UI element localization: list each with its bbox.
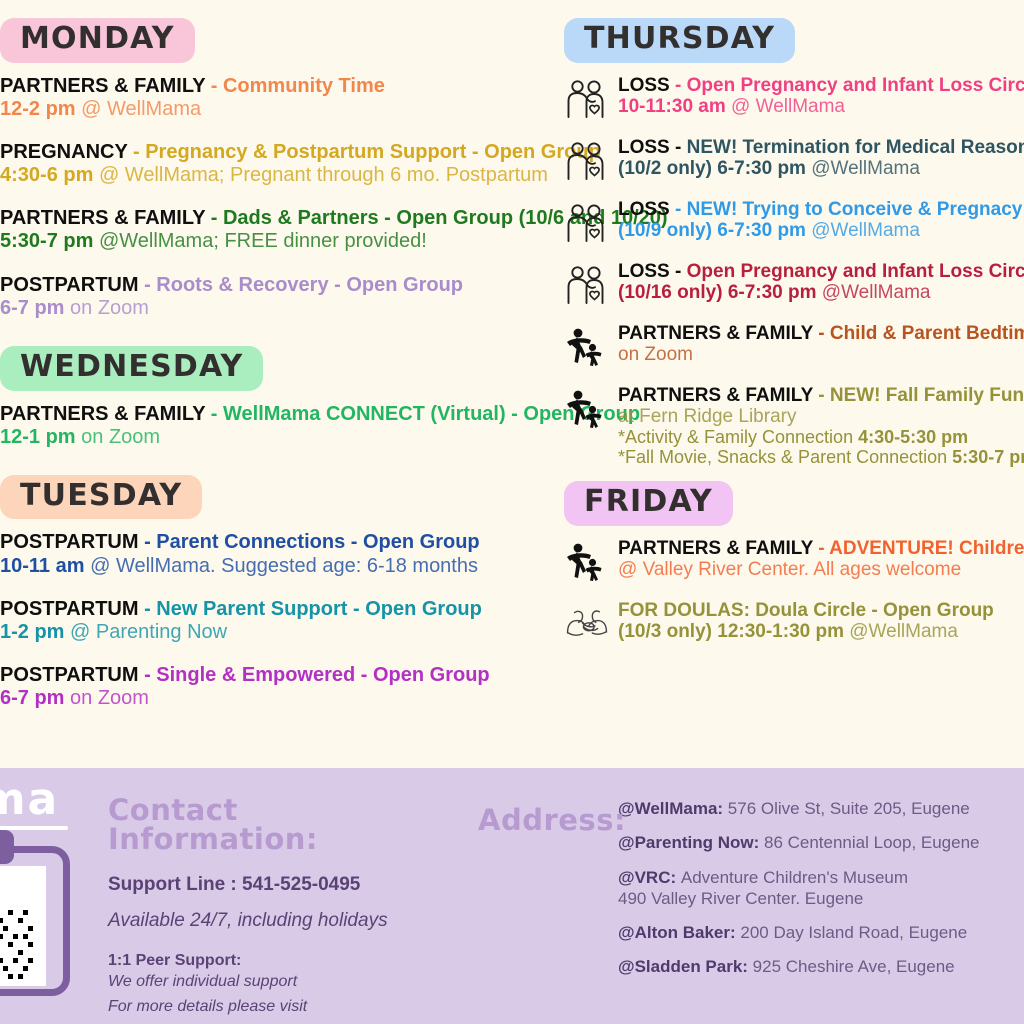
- event-item: PARTNERS & FAMILY - NEW! Fall Family Fun…: [564, 385, 1024, 468]
- event-time-line: (10/16 only) 6-7:30 pm @WellMama: [618, 282, 1024, 303]
- event-time: 12-1 pm: [0, 426, 81, 448]
- event-time: 12-2 pm: [0, 98, 81, 120]
- event-title: - New Parent Support - Open Group: [139, 598, 482, 620]
- event-body: LOSS - NEW! Termination for Medical Reas…: [618, 137, 1024, 180]
- event-item: PARTNERS & FAMILY - ADVENTURE! Children'…: [564, 538, 1024, 586]
- event-category: PARTNERS & FAMILY: [0, 75, 205, 97]
- event-body: PARTNERS & FAMILY - NEW! Fall Family Fun…: [618, 385, 1024, 468]
- peer-support-line-2: For more details please visit: [108, 995, 458, 1020]
- event-category: PARTNERS & FAMILY: [0, 207, 205, 229]
- event-title: FOR DOULAS: Doula Circle - Open Group: [618, 600, 994, 621]
- contact-information-block: Contact Information: Support Line : 541-…: [108, 796, 458, 1024]
- event-category: PREGNANCY: [0, 141, 127, 163]
- logo-underline: [0, 826, 68, 830]
- event-category: POSTPARTUM: [0, 664, 139, 686]
- day-badge-tuesday: TUESDAY: [0, 475, 202, 520]
- family-figures-icon: [564, 387, 610, 433]
- event-category: LOSS: [618, 75, 670, 96]
- event-time: 5:30-7 pm: [0, 230, 99, 252]
- address-name: @Alton Baker:: [618, 923, 740, 942]
- event-title: - NEW! Trying to Conceive & Pregnacy Aft…: [670, 199, 1024, 220]
- event-body: POSTPARTUM - Single & Empowered - Open G…: [0, 664, 1024, 710]
- day-badge-wednesday: WEDNESDAY: [0, 346, 263, 391]
- two-people-heart-icon: [564, 139, 610, 185]
- family-figures-icon: [564, 540, 610, 586]
- peer-support-heading: 1:1 Peer Support:: [108, 952, 458, 970]
- event-time-line: (10/3 only) 12:30-1:30 pm @WellMama: [618, 621, 1024, 642]
- day-badge-friday: FRIDAY: [564, 481, 733, 526]
- address-row: @Parenting Now: 86 Centennial Loop, Euge…: [618, 832, 1024, 853]
- event-body: PARTNERS & FAMILY - Child & Parent Bedti…: [618, 323, 1024, 366]
- event-title: - Child & Parent Bedtime - Open Group, 7…: [813, 323, 1024, 344]
- two-people-heart-icon: [564, 77, 610, 123]
- address-block: Address: @WellMama: 576 Olive St, Suite …: [478, 798, 1024, 991]
- event-title: - Roots & Recovery - Open Group: [139, 274, 463, 296]
- event-category: PARTNERS & FAMILY: [618, 323, 813, 344]
- event-title: Open Pregnancy and Infant Loss Circle - …: [687, 261, 1024, 282]
- event-title: - NEW! Fall Family Fun Night - Open Grou…: [813, 385, 1024, 406]
- event-title: - Single & Empowered - Open Group: [139, 664, 490, 686]
- wellmama-logo: ama: [0, 778, 88, 830]
- address-heading: Address:: [478, 806, 626, 835]
- address-value-line2: 490 Valley River Center. Eugene: [618, 888, 1024, 909]
- event-location: @WellMama: [849, 621, 958, 642]
- event-category: PARTNERS & FAMILY: [618, 385, 813, 406]
- family-figures-icon: [564, 325, 610, 371]
- address-value: 576 Olive St, Suite 205, Eugene: [728, 799, 970, 818]
- calendar-column-right: THURSDAYLOSS - Open Pregnancy and Infant…: [560, 0, 1024, 662]
- two-people-heart-icon: [564, 263, 610, 309]
- event-location: on Zoom: [70, 297, 149, 319]
- event-sub-line: *Activity & Family Connection 4:30-5:30 …: [618, 427, 1024, 447]
- event-time: (10/2 only) 6-7:30 pm: [618, 158, 811, 179]
- event-title-line: LOSS - NEW! Termination for Medical Reas…: [618, 137, 1024, 158]
- event-category: POSTPARTUM: [0, 598, 139, 620]
- support-line: Support Line : 541-525-0495: [108, 874, 458, 896]
- address-value: 86 Centennial Loop, Eugene: [764, 833, 980, 852]
- support-availability: Available 24/7, including holidays: [108, 910, 458, 932]
- two-people-heart-icon: [564, 201, 610, 247]
- two-people-heart-icon: [564, 139, 610, 185]
- event-location: on Zoom: [618, 344, 693, 365]
- event-body: LOSS - Open Pregnancy and Infant Loss Ci…: [618, 261, 1024, 304]
- event-body: LOSS - NEW! Trying to Conceive & Pregnac…: [618, 199, 1024, 242]
- event-category: POSTPARTUM: [0, 531, 139, 553]
- event-time-line: (10/2 only) 6-7:30 pm @WellMama: [618, 158, 1024, 179]
- address-name: @VRC:: [618, 868, 681, 887]
- event-location: on Zoom: [70, 687, 149, 709]
- event-sub-line: *Fall Movie, Snacks & Parent Connection …: [618, 447, 1024, 467]
- event-location: @ WellMama: [81, 98, 201, 120]
- event-time: 10-11:30 am: [618, 96, 731, 117]
- event-title: - ADVENTURE! Children's Museum - Open Gr…: [813, 538, 1024, 559]
- event-time: 4:30-6 pm: [0, 164, 99, 186]
- event-location: @ Parenting Now: [70, 621, 227, 643]
- two-people-heart-icon: [564, 201, 610, 247]
- event-location: @ Valley River Center. All ages welcome: [618, 559, 961, 580]
- event-title-line: PARTNERS & FAMILY - NEW! Fall Family Fun…: [618, 385, 1024, 406]
- event-body: PARTNERS & FAMILY - ADVENTURE! Children'…: [618, 538, 1024, 581]
- address-value: Adventure Children's Museum: [681, 868, 908, 887]
- event-title-line: PARTNERS & FAMILY - Child & Parent Bedti…: [618, 323, 1024, 344]
- event-location: @WellMama: [811, 220, 920, 241]
- peer-support-url[interactable]: www.wellmama.help/get-support/: [108, 1020, 458, 1024]
- event-item: POSTPARTUM - Single & Empowered - Open G…: [0, 664, 1024, 710]
- event-title: - Open Pregnancy and Infant Loss Circle …: [670, 75, 1024, 96]
- event-list: LOSS - Open Pregnancy and Infant Loss Ci…: [564, 75, 1024, 468]
- event-time: 1-2 pm: [0, 621, 70, 643]
- day-badge-monday: MONDAY: [0, 18, 195, 63]
- event-item: LOSS - NEW! Trying to Conceive & Pregnac…: [564, 199, 1024, 247]
- day-section: THURSDAYLOSS - Open Pregnancy and Infant…: [564, 18, 1024, 467]
- address-value: 925 Cheshire Ave, Eugene: [753, 957, 955, 976]
- event-time: (10/9 only) 6-7:30 pm: [618, 220, 811, 241]
- address-name: @WellMama:: [618, 799, 728, 818]
- family-figures-icon: [564, 540, 610, 586]
- family-figures-icon: [564, 387, 610, 433]
- event-category: LOSS -: [618, 137, 687, 158]
- address-row: @Alton Baker: 200 Day Island Road, Eugen…: [618, 922, 1024, 943]
- event-title-line: PARTNERS & FAMILY - ADVENTURE! Children'…: [618, 538, 1024, 559]
- address-list: @WellMama: 576 Olive St, Suite 205, Euge…: [618, 798, 1024, 978]
- event-item: LOSS - Open Pregnancy and Infant Loss Ci…: [564, 75, 1024, 123]
- event-location: @ WellMama. Suggested age: 6-18 months: [90, 555, 478, 577]
- event-list: PARTNERS & FAMILY - ADVENTURE! Children'…: [564, 538, 1024, 648]
- event-category: LOSS: [618, 199, 670, 220]
- event-location: @ WellMama; Pregnant through 6 mo. Postp…: [99, 164, 548, 186]
- event-time: (10/16 only) 6-7:30 pm: [618, 282, 822, 303]
- event-title-line: LOSS - Open Pregnancy and Infant Loss Ci…: [618, 261, 1024, 282]
- event-item: FOR DOULAS: Doula Circle - Open Group(10…: [564, 600, 1024, 648]
- footer: ama: [0, 768, 1024, 1024]
- day-badge-thursday: THURSDAY: [564, 18, 795, 63]
- event-title: - Pregnancy & Postpartum Support - Open …: [127, 141, 600, 163]
- event-title: NEW! Termination for Medical Reasons - O…: [687, 137, 1024, 158]
- event-category: LOSS -: [618, 261, 687, 282]
- address-value: 200 Day Island Road, Eugene: [740, 923, 967, 942]
- event-time: 6-7 pm: [0, 297, 70, 319]
- calendar-body: MONDAYPARTNERS & FAMILY - Community Time…: [0, 0, 1024, 768]
- event-location: @ WellMama: [731, 96, 845, 117]
- day-section: FRIDAYPARTNERS & FAMILY - ADVENTURE! Chi…: [564, 481, 1024, 648]
- event-time-line: (10/9 only) 6-7:30 pm @WellMama: [618, 220, 1024, 241]
- two-people-heart-icon: [564, 77, 610, 123]
- event-time-line: on Zoom: [618, 344, 1024, 365]
- event-item: PARTNERS & FAMILY - Child & Parent Bedti…: [564, 323, 1024, 371]
- calendar-flyer: MONDAYPARTNERS & FAMILY - Community Time…: [0, 0, 1024, 1024]
- event-title-line: FOR DOULAS: Doula Circle - Open Group: [618, 600, 1024, 621]
- address-row: @VRC: Adventure Children's Museum490 Val…: [618, 867, 1024, 910]
- event-time: (10/3 only) 12:30-1:30 pm: [618, 621, 849, 642]
- event-time-line: @ Valley River Center. All ages welcome: [618, 559, 1024, 580]
- event-category: POSTPARTUM: [0, 274, 139, 296]
- event-time: 10-11 am: [0, 555, 90, 577]
- event-title: - Parent Connections - Open Group: [139, 531, 480, 553]
- event-category: PARTNERS & FAMILY: [0, 403, 205, 425]
- address-row: @Sladden Park: 925 Cheshire Ave, Eugene: [618, 956, 1024, 977]
- event-time: 6-7 pm: [0, 687, 70, 709]
- event-item: LOSS - NEW! Termination for Medical Reas…: [564, 137, 1024, 185]
- event-title-line: POSTPARTUM - Single & Empowered - Open G…: [0, 664, 1024, 687]
- event-body: FOR DOULAS: Doula Circle - Open Group(10…: [618, 600, 1024, 643]
- event-location: on Zoom: [81, 426, 160, 448]
- two-people-heart-icon: [564, 263, 610, 309]
- address-name: @Sladden Park:: [618, 957, 753, 976]
- event-location: @WellMama: [811, 158, 920, 179]
- event-location: @WellMama: [822, 282, 931, 303]
- event-body: LOSS - Open Pregnancy and Infant Loss Ci…: [618, 75, 1024, 118]
- doula-icon: [564, 602, 610, 648]
- address-name: @Parenting Now:: [618, 833, 764, 852]
- event-title: - Community Time: [205, 75, 385, 97]
- address-row: @WellMama: 576 Olive St, Suite 205, Euge…: [618, 798, 1024, 819]
- logo-text: ama: [0, 778, 88, 822]
- event-time-line: 6-7 pm on Zoom: [0, 687, 1024, 710]
- event-item: LOSS - Open Pregnancy and Infant Loss Ci…: [564, 261, 1024, 309]
- family-figures-icon: [564, 325, 610, 371]
- event-title-line: LOSS - Open Pregnancy and Infant Loss Ci…: [618, 75, 1024, 96]
- event-time-line: 10-11:30 am @ WellMama: [618, 96, 1024, 117]
- event-time-line: at Fern Ridge Library: [618, 406, 1024, 427]
- event-location: @WellMama; FREE dinner provided!: [99, 230, 427, 252]
- peer-support-line-1: We offer individual support: [108, 970, 458, 995]
- event-location: at Fern Ridge Library: [618, 406, 796, 427]
- event-category: PARTNERS & FAMILY: [618, 538, 813, 559]
- qr-code[interactable]: [0, 866, 46, 986]
- doula-icon: [564, 602, 610, 648]
- event-title-line: LOSS - NEW! Trying to Conceive & Pregnac…: [618, 199, 1024, 220]
- contact-heading: Contact Information:: [108, 796, 458, 854]
